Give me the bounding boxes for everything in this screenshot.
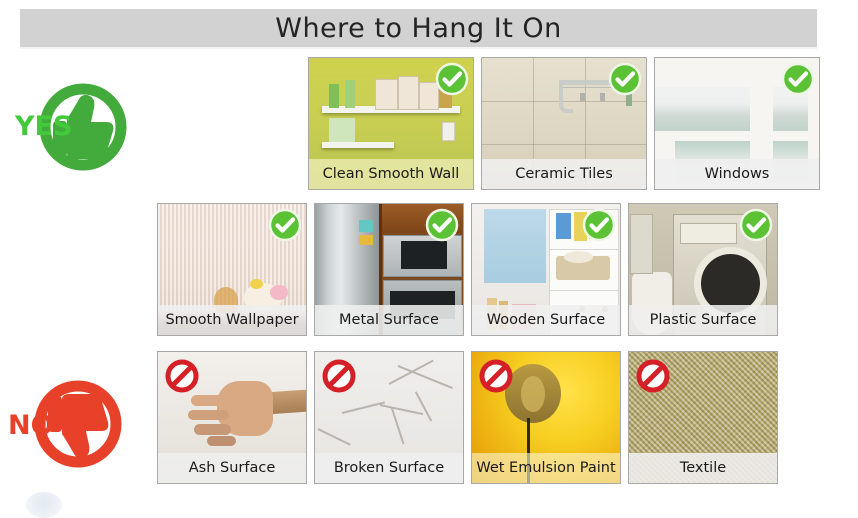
thumbs-up-circle-icon: YES	[5, 75, 145, 180]
surface-card[interactable]: Metal Surface	[314, 203, 464, 336]
surface-card[interactable]: Broken Surface	[314, 351, 464, 484]
green-check-badge-icon	[268, 208, 302, 242]
card-label: Clean Smooth Wall	[309, 159, 473, 189]
card-label: Wet Emulsion Paint	[472, 453, 620, 483]
card-label: Wooden Surface	[472, 305, 620, 335]
green-check-badge-icon	[739, 208, 773, 242]
card-label: Metal Surface	[315, 305, 463, 335]
red-prohibition-badge-icon	[164, 358, 200, 394]
green-check-badge-icon	[582, 208, 616, 242]
surface-card[interactable]: Ceramic Tiles	[481, 57, 647, 190]
green-check-badge-icon	[608, 62, 642, 96]
card-row-3: Ash Surface	[157, 351, 778, 484]
verdict-yes: YES	[5, 75, 145, 180]
red-prohibition-badge-icon	[478, 358, 514, 394]
green-check-badge-icon	[425, 208, 459, 242]
surface-card[interactable]: Plastic Surface	[628, 203, 778, 336]
surface-card[interactable]: Wooden Surface	[471, 203, 621, 336]
verdict-no: NO	[0, 372, 140, 477]
header-divider	[20, 47, 817, 49]
red-prohibition-badge-icon	[635, 358, 671, 394]
svg-text:NO: NO	[8, 410, 54, 441]
card-label: Ash Surface	[158, 453, 306, 483]
red-prohibition-badge-icon	[321, 358, 357, 394]
surface-card[interactable]: Clean Smooth Wall	[308, 57, 474, 190]
card-label: Broken Surface	[315, 453, 463, 483]
card-label: Ceramic Tiles	[482, 159, 646, 189]
header-bar: Where to Hang It On	[20, 9, 817, 47]
surface-card[interactable]: Smooth Wallpaper	[157, 203, 307, 336]
green-check-badge-icon	[435, 62, 469, 96]
surface-card[interactable]: Windows	[654, 57, 820, 190]
partial-next-section	[26, 492, 62, 518]
card-label: Windows	[655, 159, 819, 189]
surface-card[interactable]: Textile	[628, 351, 778, 484]
svg-text:YES: YES	[14, 111, 72, 142]
surface-card[interactable]: Wet Emulsion Paint	[471, 351, 621, 484]
thumbs-down-circle-icon: NO	[0, 372, 140, 477]
infographic-canvas: Where to Hang It On YES NO	[0, 0, 858, 506]
card-row-2: Smooth Wallpaper	[157, 203, 778, 336]
card-label: Smooth Wallpaper	[158, 305, 306, 335]
card-row-1: Clean Smooth Wall	[308, 57, 820, 190]
page-title: Where to Hang It On	[275, 13, 562, 44]
surface-card[interactable]: Ash Surface	[157, 351, 307, 484]
card-label: Plastic Surface	[629, 305, 777, 335]
green-check-badge-icon	[781, 62, 815, 96]
card-label: Textile	[629, 453, 777, 483]
